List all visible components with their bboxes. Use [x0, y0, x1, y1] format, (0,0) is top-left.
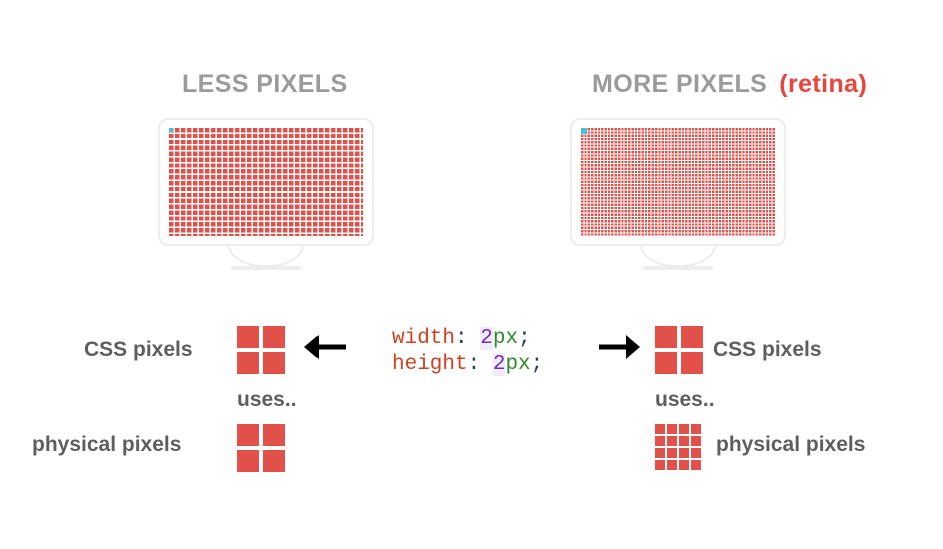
left-uses-label: uses.. [237, 388, 297, 412]
monitor-standard-screen [158, 118, 374, 246]
highlight-pixel-retina [581, 128, 587, 134]
right-css-pixels-swatch [655, 326, 703, 374]
pixel-square [237, 450, 259, 472]
pixel-square [237, 326, 259, 348]
monitor-standard-pixel-field [169, 128, 363, 236]
pixel-square [263, 450, 285, 472]
pixel-square [691, 424, 701, 434]
stand-neck [228, 245, 304, 267]
code-property: width [392, 327, 455, 350]
pixel-square [655, 436, 665, 446]
code-semicolon: ; [531, 353, 544, 376]
pixel-square [667, 460, 677, 470]
pixel-square [263, 326, 285, 348]
pixel-square [681, 352, 703, 374]
code-line: height: 2px; [392, 352, 543, 378]
pixel-square [655, 352, 677, 374]
arrow-left-icon [303, 332, 347, 367]
monitor-retina [570, 118, 786, 273]
code-colon: : [468, 353, 493, 376]
right-physical-pixels-label: physical pixels [716, 433, 865, 457]
code-unit: px [493, 327, 518, 350]
pixel-square [667, 436, 677, 446]
monitor-standard [158, 118, 374, 273]
code-colon: : [455, 327, 480, 350]
pixel-square [691, 448, 701, 458]
pixel-grid-retina [581, 128, 775, 236]
code-value: 2 [480, 327, 493, 350]
left-css-pixels-swatch [237, 326, 285, 374]
pixel-square [655, 424, 665, 434]
pixel-grid-standard [169, 128, 363, 236]
monitor-retina-screen [570, 118, 786, 246]
pixel-square [263, 424, 285, 446]
pixel-square [237, 352, 259, 374]
retina-badge: (retina) [779, 70, 867, 98]
left-css-pixels-label: CSS pixels [84, 338, 193, 362]
stand-base [231, 266, 301, 270]
pixel-square [667, 424, 677, 434]
pixel-square [655, 326, 677, 348]
code-line: width: 2px; [392, 326, 543, 352]
stand-base [643, 266, 713, 270]
heading-more-pixels: MORE PIXELS(retina) [592, 70, 867, 99]
pixel-square [263, 352, 285, 374]
pixel-square [237, 424, 259, 446]
right-css-pixels-label: CSS pixels [713, 338, 822, 362]
monitor-standard-stand [158, 245, 374, 273]
code-unit: px [505, 353, 530, 376]
monitor-retina-stand [570, 245, 786, 273]
highlight-pixel-standard [169, 128, 173, 132]
code-snippet: width: 2px;height: 2px; [392, 326, 543, 378]
heading-left-text: LESS PIXELS [182, 70, 348, 98]
pixel-square [691, 460, 701, 470]
left-physical-pixels-label: physical pixels [32, 433, 181, 457]
code-value: 2 [493, 353, 506, 376]
pixel-square [679, 424, 689, 434]
left-physical-pixels-swatch [237, 424, 285, 472]
pixel-square [667, 448, 677, 458]
pixel-square [681, 326, 703, 348]
pixel-square [679, 448, 689, 458]
code-semicolon: ; [518, 327, 531, 350]
stand-neck [640, 245, 716, 267]
code-property: height [392, 353, 468, 376]
pixel-square [679, 460, 689, 470]
pixel-square [679, 436, 689, 446]
right-uses-label: uses.. [655, 388, 715, 412]
arrow-right-icon [598, 332, 642, 367]
pixel-square [655, 448, 665, 458]
pixel-square [691, 436, 701, 446]
pixel-square [655, 460, 665, 470]
right-physical-pixels-swatch [655, 424, 701, 470]
heading-less-pixels: LESS PIXELS [182, 70, 348, 99]
monitor-retina-pixel-field [581, 128, 775, 236]
heading-right-text: MORE PIXELS [592, 70, 767, 98]
